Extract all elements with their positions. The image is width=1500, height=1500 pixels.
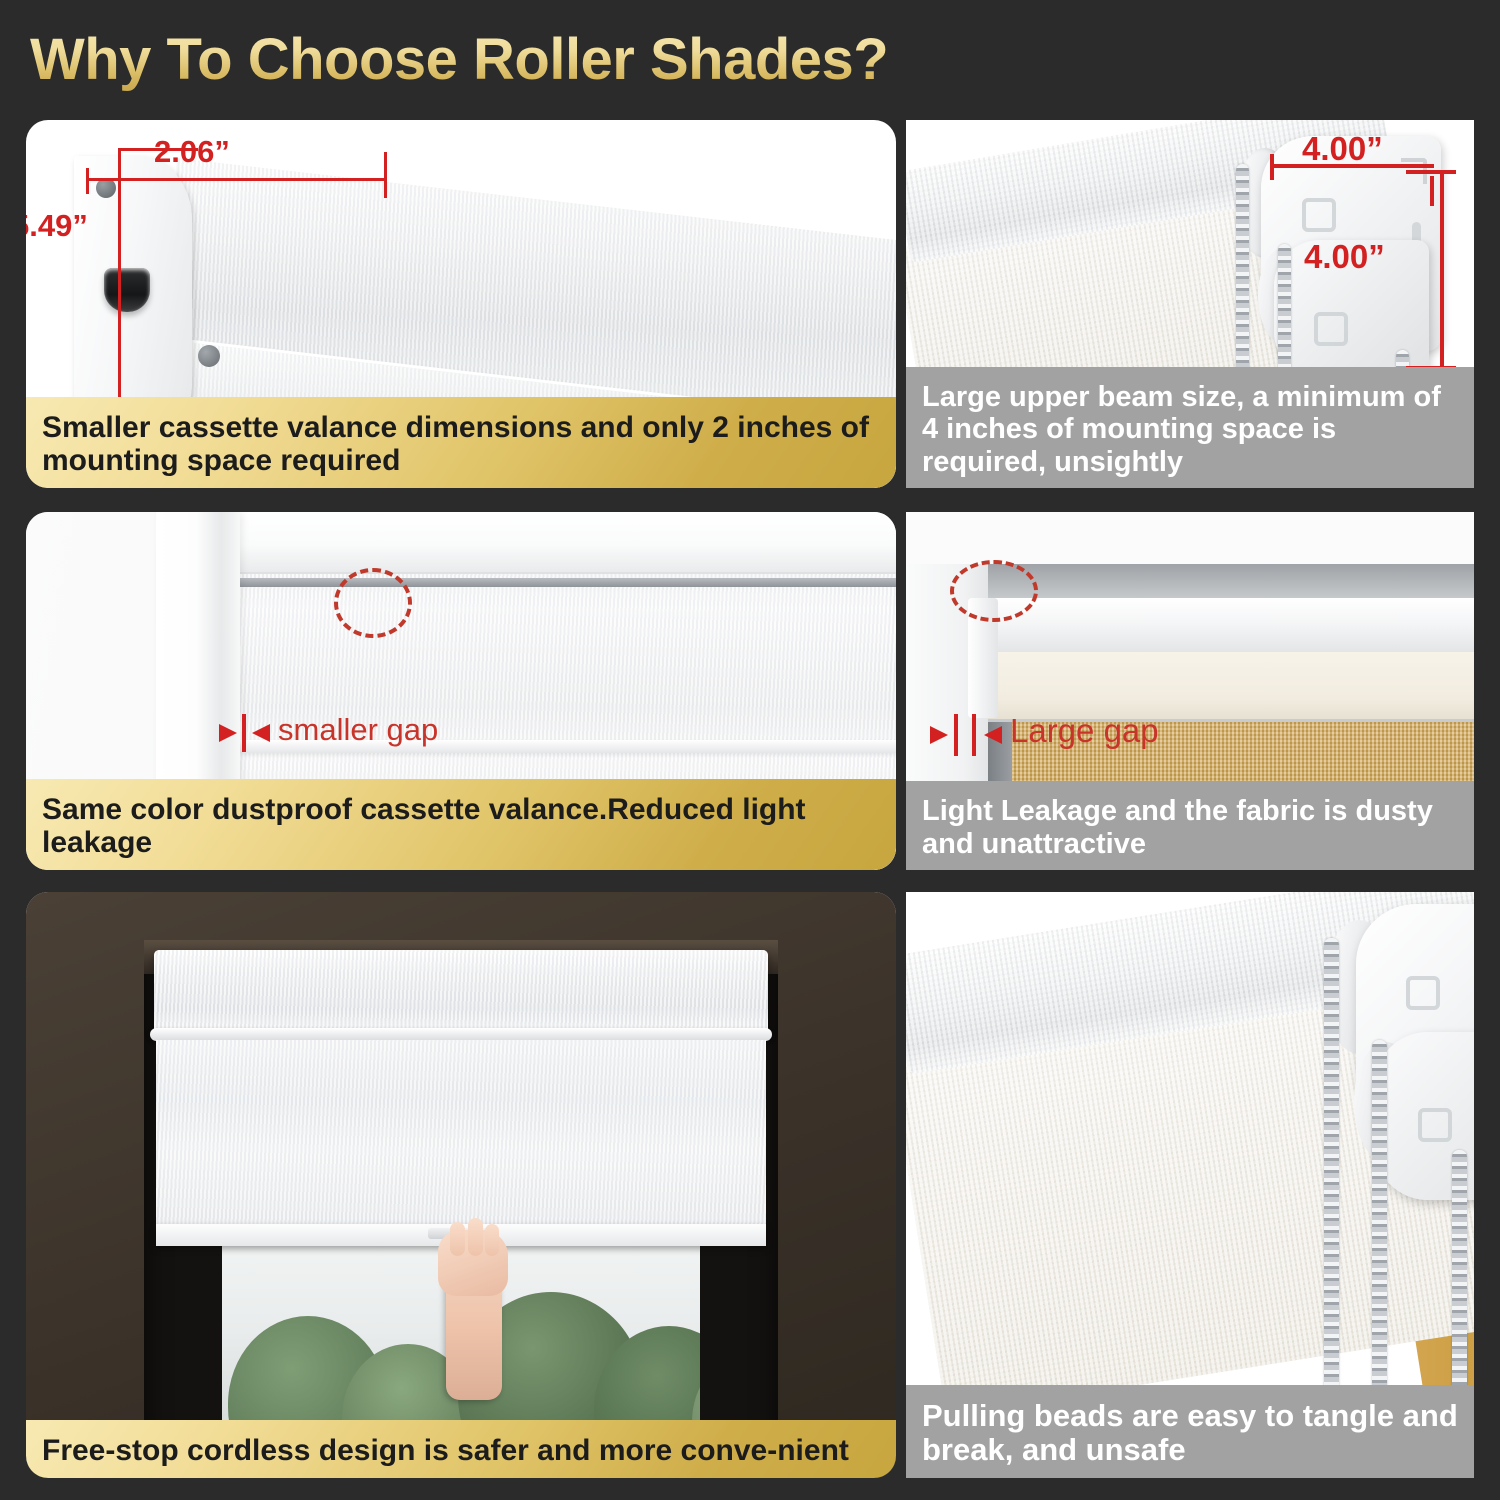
caption-pro-cassette-size: Smaller cassette valance dimensions and … [26,397,896,488]
gap-label-large: Large gap [1010,712,1159,750]
caption-con-bead-chain: Pulling beads are easy to tangle and bre… [906,1385,1474,1478]
caption-pro-small-gap: Same color dustproof cassette valance.Re… [26,779,896,870]
bead-chain [1324,938,1339,1393]
panel-pro-cordless: Free-stop cordless design is safer and m… [26,892,896,1478]
highlight-circle-icon [950,560,1038,622]
dimension-line-horizontal [86,178,386,181]
gap-label-smaller: smaller gap [278,712,438,748]
dimension-label-width: 4.00” [1302,130,1383,168]
panel-con-beam-size: 4.00” 4.00” Large upper beam size, a min… [906,120,1474,488]
panel-con-large-gap: Large gap Light Leakage and the fabric i… [906,512,1474,870]
gap-arrow-right-icon [252,724,270,742]
dimension-tick-right [384,152,387,198]
gap-arrow-left-icon [219,724,237,742]
caption-pro-cordless: Free-stop cordless design is safer and m… [26,1420,896,1478]
photo-room-window-shade [26,892,896,1478]
bead-chain [1372,1040,1387,1393]
panel-pro-small-gap: smaller gap Same color dustproof cassett… [26,512,896,870]
gap-tick [954,714,958,756]
hand-finger [468,1218,483,1256]
dimension-tick-top [1406,170,1456,174]
ceiling-surface [906,512,1474,564]
panel-pro-cassette-size: 5.49” 2.06” Smaller cassette valance dim… [26,120,896,488]
bracket-slot [104,268,150,312]
highlight-circle-icon [334,568,412,638]
dimension-label-width: 2.06” [154,134,230,170]
screw-icon [198,345,220,367]
panel-con-bead-chain: Pulling beads are easy to tangle and bre… [906,892,1474,1478]
screw-icon [96,178,116,198]
cassette-valance [154,950,768,1032]
bracket-arrow-icon [1314,312,1348,346]
gap-tick [972,714,976,756]
caption-con-large-gap: Light Leakage and the fabric is dusty an… [906,781,1474,870]
gap-arrow-left-icon [930,726,948,744]
dimension-tick-right [1430,176,1434,206]
dimension-label-height: 4.00” [1304,238,1385,276]
dimension-line-vertical [1440,170,1444,370]
caption-con-beam-size: Large upper beam size, a minimum of 4 in… [906,367,1474,488]
hand-finger [485,1224,499,1256]
gap-arrow-right-icon [984,726,1002,744]
shade-fabric [156,1040,766,1242]
dimension-label-height: 5.49” [26,208,88,244]
bead-chain [1452,1150,1467,1393]
window-header-trim [156,512,896,574]
page-title: Why To Choose Roller Shades? [30,24,1080,96]
gap-tick [242,714,246,752]
bracket-arrow-icon [1302,198,1336,232]
hand-finger [450,1222,465,1256]
bracket-arrow-icon [1406,976,1440,1010]
bracket-arrow-icon [1418,1108,1452,1142]
dimension-tick-left [86,168,89,194]
